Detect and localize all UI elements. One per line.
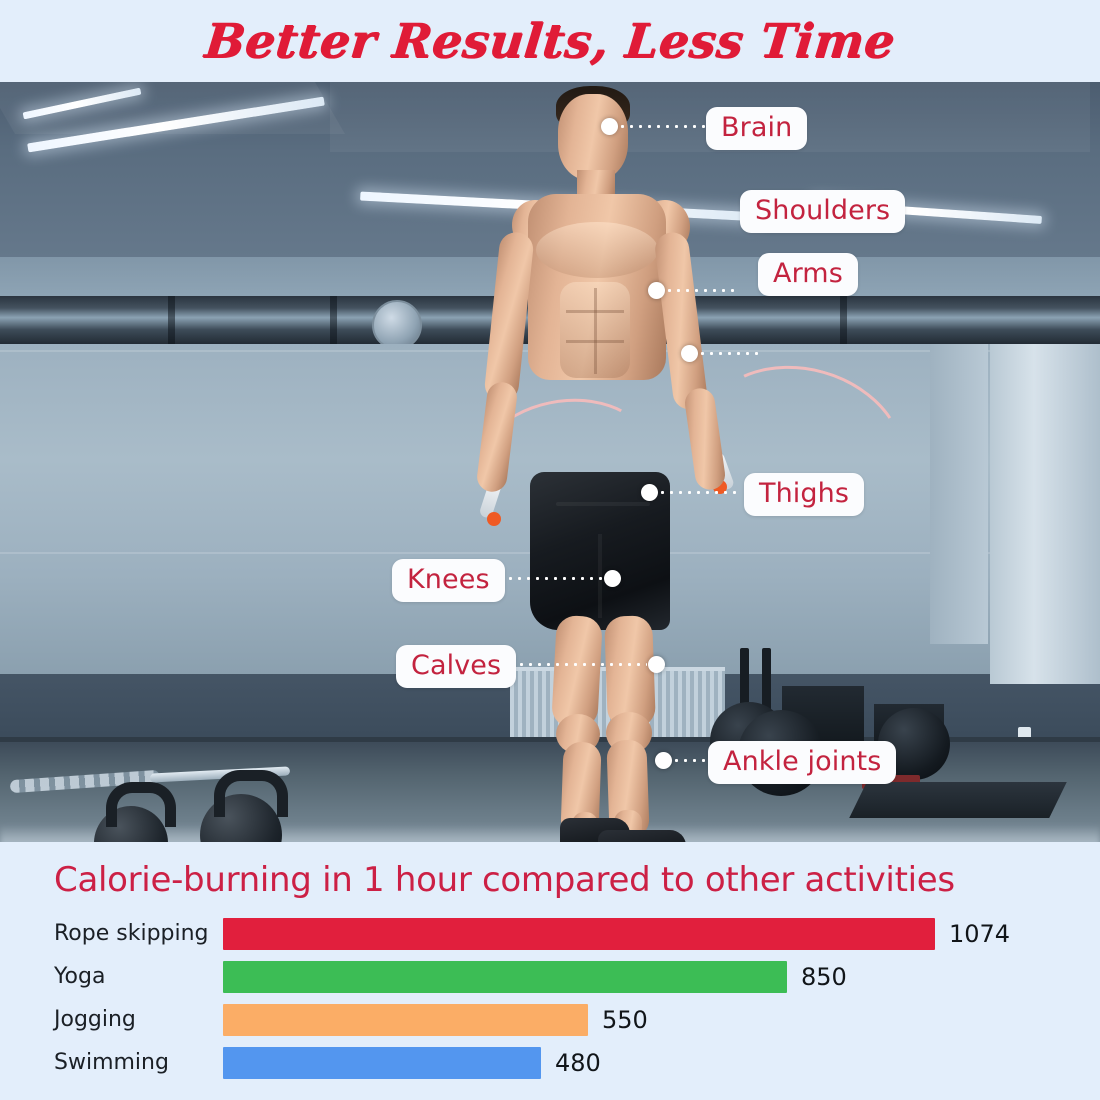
calorie-chart: Calorie-burning in 1 hour compared to ot… <box>0 842 1100 1100</box>
annotation-line-brain <box>618 125 706 128</box>
abdomen-line <box>566 340 624 343</box>
annotation-label-thighs: Thighs <box>744 473 864 516</box>
gym-photo: Brain Shoulders Arms Thighs Knees Calves… <box>0 82 1100 842</box>
page-title: Better Results, Less Time <box>202 14 897 69</box>
annotation-dot-brain <box>601 118 618 135</box>
annotation-label-arms: Arms <box>758 253 858 296</box>
bar-jogging <box>223 1004 588 1036</box>
chart-row: Yoga 850 <box>0 955 1100 998</box>
bar-category-label: Jogging <box>54 1007 214 1032</box>
bar-value-label: 480 <box>555 1049 601 1077</box>
abdomen-line <box>566 310 624 313</box>
annotation-line-thighs <box>658 491 742 494</box>
head <box>558 94 628 180</box>
bar-value-label: 850 <box>801 963 847 991</box>
abdomen-line <box>594 288 597 374</box>
annotation-line-shoulders <box>665 289 740 292</box>
infographic-page: Better Results, Less Time <box>0 0 1100 1100</box>
bar-value-label: 1074 <box>949 920 1010 948</box>
annotation-dot-calves <box>648 656 665 673</box>
thigh-left <box>551 615 603 729</box>
bar-yoga <box>223 961 787 993</box>
shorts-fold <box>598 534 602 618</box>
annotation-line-arms <box>698 352 758 355</box>
chart-row: Jogging 550 <box>0 998 1100 1041</box>
bar-value-label: 550 <box>602 1006 648 1034</box>
bar-category-label: Rope skipping <box>54 921 214 946</box>
annotation-dot-knees <box>604 570 621 587</box>
annotation-line-ankle-joints <box>672 759 708 762</box>
annotation-label-brain: Brain <box>706 107 807 150</box>
chart-row: Swimming 480 <box>0 1041 1100 1084</box>
annotation-label-calves: Calves <box>396 645 516 688</box>
bar-swimming <box>223 1047 541 1079</box>
shorts-fold <box>556 502 650 506</box>
chart-rows: Rope skipping 1074 Yoga 850 Jogging 550 … <box>0 912 1100 1084</box>
chart-title: Calorie-burning in 1 hour compared to ot… <box>54 860 955 900</box>
annotation-dot-ankle-joints <box>655 752 672 769</box>
rope-handle-cap <box>487 512 501 526</box>
bar-category-label: Yoga <box>54 964 214 989</box>
annotation-dot-arms <box>681 345 698 362</box>
annotation-dot-thighs <box>641 484 658 501</box>
annotation-line-calves <box>508 663 647 666</box>
title-bar: Better Results, Less Time <box>0 0 1100 82</box>
chart-row: Rope skipping 1074 <box>0 912 1100 955</box>
chest <box>536 222 658 278</box>
annotation-label-ankle-joints: Ankle joints <box>708 741 896 784</box>
annotation-line-knees <box>497 577 603 580</box>
annotation-label-knees: Knees <box>392 559 505 602</box>
bar-category-label: Swimming <box>54 1050 214 1075</box>
athlete <box>0 82 1100 842</box>
annotation-dot-shoulders <box>648 282 665 299</box>
annotation-label-shoulders: Shoulders <box>740 190 905 233</box>
shoe-right <box>598 830 686 842</box>
bar-rope-skipping <box>223 918 935 950</box>
